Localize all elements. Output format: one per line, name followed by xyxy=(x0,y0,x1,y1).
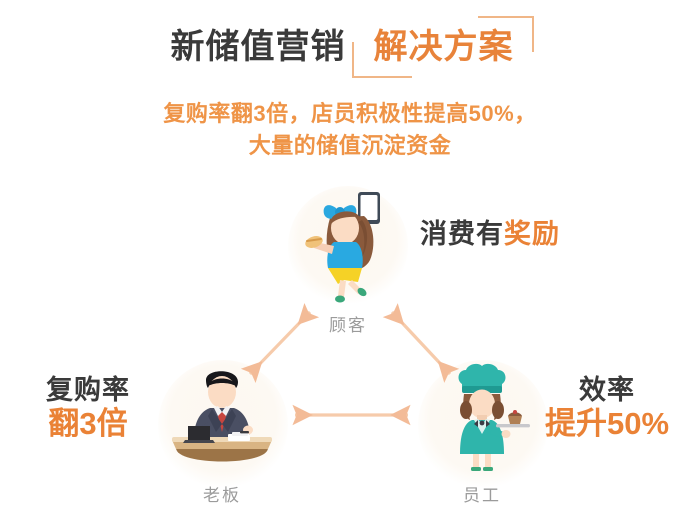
title-main-text: 新储值营销 xyxy=(171,30,346,64)
title-accent-group: 解决方案 xyxy=(360,24,530,70)
page-title: 新储值营销 解决方案 xyxy=(0,16,700,78)
staff-illustration-icon xyxy=(412,354,552,474)
diagram-node-customer[interactable]: 顾客 xyxy=(278,184,418,336)
relationship-diagram: 顾客 xyxy=(0,178,700,526)
node-label-customer: 顾客 xyxy=(278,311,418,336)
node-label-staff: 员工 xyxy=(412,481,552,506)
diagram-node-boss[interactable]: 老板 xyxy=(152,354,292,506)
title-accent-text: 解决方案 xyxy=(374,28,514,66)
subtitle: 复购率翻3倍，店员积极性提高50%， 大量的储值沉淀资金 xyxy=(0,98,700,162)
boss-illustration-icon xyxy=(152,354,292,474)
node-label-boss: 老板 xyxy=(152,481,292,506)
subtitle-line-2: 大量的储值沉淀资金 xyxy=(0,130,700,162)
poster-canvas: 新储值营销 解决方案 复购率翻3倍，店员积极性提高50%， 大量的储值沉淀资金 xyxy=(0,0,700,526)
diagram-node-staff[interactable]: 员工 xyxy=(412,354,552,506)
customer-illustration-icon xyxy=(278,184,418,304)
subtitle-line-1: 复购率翻3倍，店员积极性提高50%， xyxy=(0,98,700,130)
